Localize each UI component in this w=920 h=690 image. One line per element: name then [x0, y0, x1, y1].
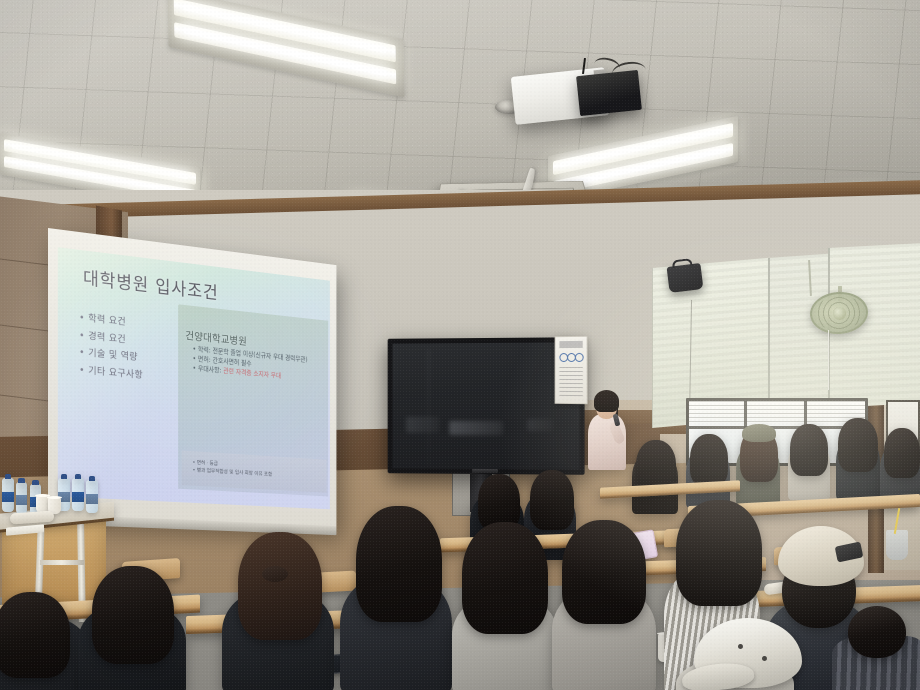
slide-inner-panel: 건양대학교병원 학력: 전문학 졸업 이상(신규자 우대 경력무관) 면허: 간…: [178, 304, 328, 496]
presenter-hair: [594, 390, 619, 412]
wall-poster: [555, 336, 588, 404]
student-head: [356, 506, 442, 622]
student-head: [790, 424, 828, 476]
slide-panel-item-label: 우대사항:: [198, 365, 223, 375]
poster-text-lines: [559, 367, 582, 397]
student-head: [562, 520, 646, 624]
hair-bun: [262, 566, 288, 582]
wall-mounted-fan: [809, 290, 870, 336]
cap-button: [738, 644, 743, 649]
wall-fan-hub: [832, 306, 846, 320]
slide-panel-list: 학력: 전문학 졸업 이상(신규자 우대 경력무관) 면허: 간호사면허 필수 …: [193, 344, 325, 384]
classroom-photo: 2: [0, 0, 920, 690]
student-head: [462, 522, 548, 634]
slide-bullet: 기타 요구사항: [79, 364, 143, 384]
wall-speaker: [667, 263, 704, 293]
tv-reflection-3: [527, 419, 553, 431]
student-head: [838, 418, 878, 472]
tv-reflection-2: [406, 417, 439, 433]
water-bottle: [72, 478, 84, 511]
poster-ring-icon: [575, 353, 584, 362]
student-head: [530, 470, 574, 530]
student-head: [848, 606, 906, 658]
iced-drink-cup: [886, 530, 908, 560]
slide-bullet: 기술 및 역량: [79, 346, 143, 366]
tv-reflection-1: [449, 421, 503, 435]
student-head: [0, 592, 70, 678]
water-bottle: [86, 480, 98, 513]
student-head: [690, 434, 728, 486]
window-rail: [689, 426, 865, 429]
podium-cross-brace: [40, 560, 84, 565]
tv-brand-logo: [472, 469, 498, 473]
student-head: [884, 428, 920, 478]
slide-title: 대학병원 입사조건: [83, 264, 219, 305]
slide-bullet: 경력 요건: [79, 329, 143, 349]
slide-bullet-list: 학력 요건 경력 요건 기술 및 역량 기타 요구사항: [79, 311, 143, 386]
presentation-slide: 대학병원 입사조건 학력 요건 경력 요건 기술 및 역량 기타 요구사항 건양…: [58, 247, 330, 509]
water-bottle: [2, 478, 14, 512]
student-head: [676, 500, 762, 606]
tv-reflection-streak: [428, 348, 430, 467]
tv-screen: [393, 342, 580, 469]
student-head: [238, 532, 322, 640]
student-head: [92, 566, 174, 664]
fan-pull-cord[interactable]: [828, 330, 829, 390]
slide-subpanel-list: 면허ㆍ등급 병과 업무적합성 및 입사 희망 이유 포함: [193, 459, 273, 479]
slide-subpanel: 면허ㆍ등급 병과 업무적합성 및 입사 희망 이유 포함: [182, 451, 327, 493]
window-blind-slats: [689, 401, 865, 423]
student-cap: [742, 424, 776, 442]
poster-title-bar: [559, 341, 582, 348]
water-bottle: [16, 482, 27, 514]
cap-button: [762, 656, 767, 661]
